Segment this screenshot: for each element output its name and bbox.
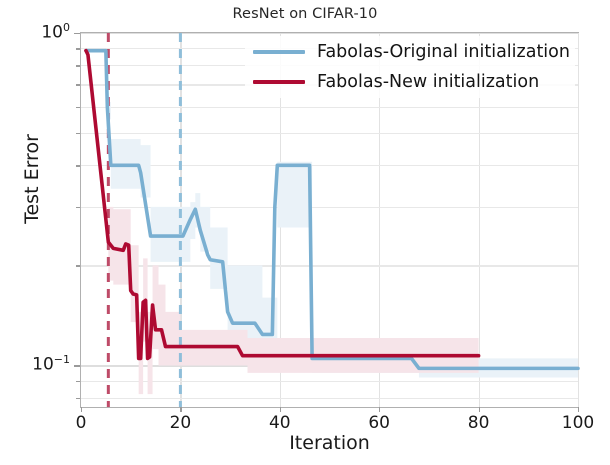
- x-tick: [578, 407, 579, 412]
- x-tick-label: 0: [51, 413, 111, 433]
- x-tick: [180, 407, 181, 412]
- y-tick-minor: [76, 84, 80, 85]
- legend-label-new: Fabolas-New initialization: [317, 72, 539, 92]
- legend-swatch-original: [253, 50, 305, 55]
- x-tick-label: 100: [548, 413, 608, 433]
- x-tick-label: 60: [349, 413, 409, 433]
- y-tick-minor: [76, 107, 80, 108]
- figure: ResNet on CIFAR-10 Test Error Iteration …: [0, 0, 610, 465]
- y-tick-minor: [76, 165, 80, 166]
- x-tick: [379, 407, 380, 412]
- y-tick-minor: [76, 133, 80, 134]
- y-tick-minor: [76, 207, 80, 208]
- y-tick-major: [74, 365, 80, 366]
- y-axis-label: Test Error: [21, 69, 43, 289]
- x-tick: [81, 407, 82, 412]
- y-tick-major: [74, 33, 80, 34]
- legend-item-original[interactable]: Fabolas-Original initialization: [245, 38, 570, 66]
- y-tick-label: 10−1: [10, 353, 70, 375]
- y-tick-minor: [76, 65, 80, 66]
- chart-title: ResNet on CIFAR-10: [0, 6, 610, 22]
- x-tick-label: 40: [250, 413, 310, 433]
- y-tick-minor: [76, 48, 80, 49]
- y-tick-label: 100: [10, 21, 70, 43]
- y-tick-minor: [76, 381, 80, 382]
- x-tick: [280, 407, 281, 412]
- x-tick: [479, 407, 480, 412]
- y-tick-minor: [76, 398, 80, 399]
- legend-label-original: Fabolas-Original initialization: [317, 42, 570, 62]
- gridline-vertical: [578, 33, 579, 407]
- x-tick-label: 80: [449, 413, 509, 433]
- legend: Fabolas-Original initialization Fabolas-…: [245, 36, 575, 98]
- legend-swatch-new: [253, 80, 305, 85]
- legend-item-new[interactable]: Fabolas-New initialization: [245, 68, 539, 96]
- axis-spine-bottom: [80, 407, 579, 408]
- x-axis-label: Iteration: [81, 432, 578, 454]
- y-tick-minor: [76, 265, 80, 266]
- x-tick-label: 20: [150, 413, 210, 433]
